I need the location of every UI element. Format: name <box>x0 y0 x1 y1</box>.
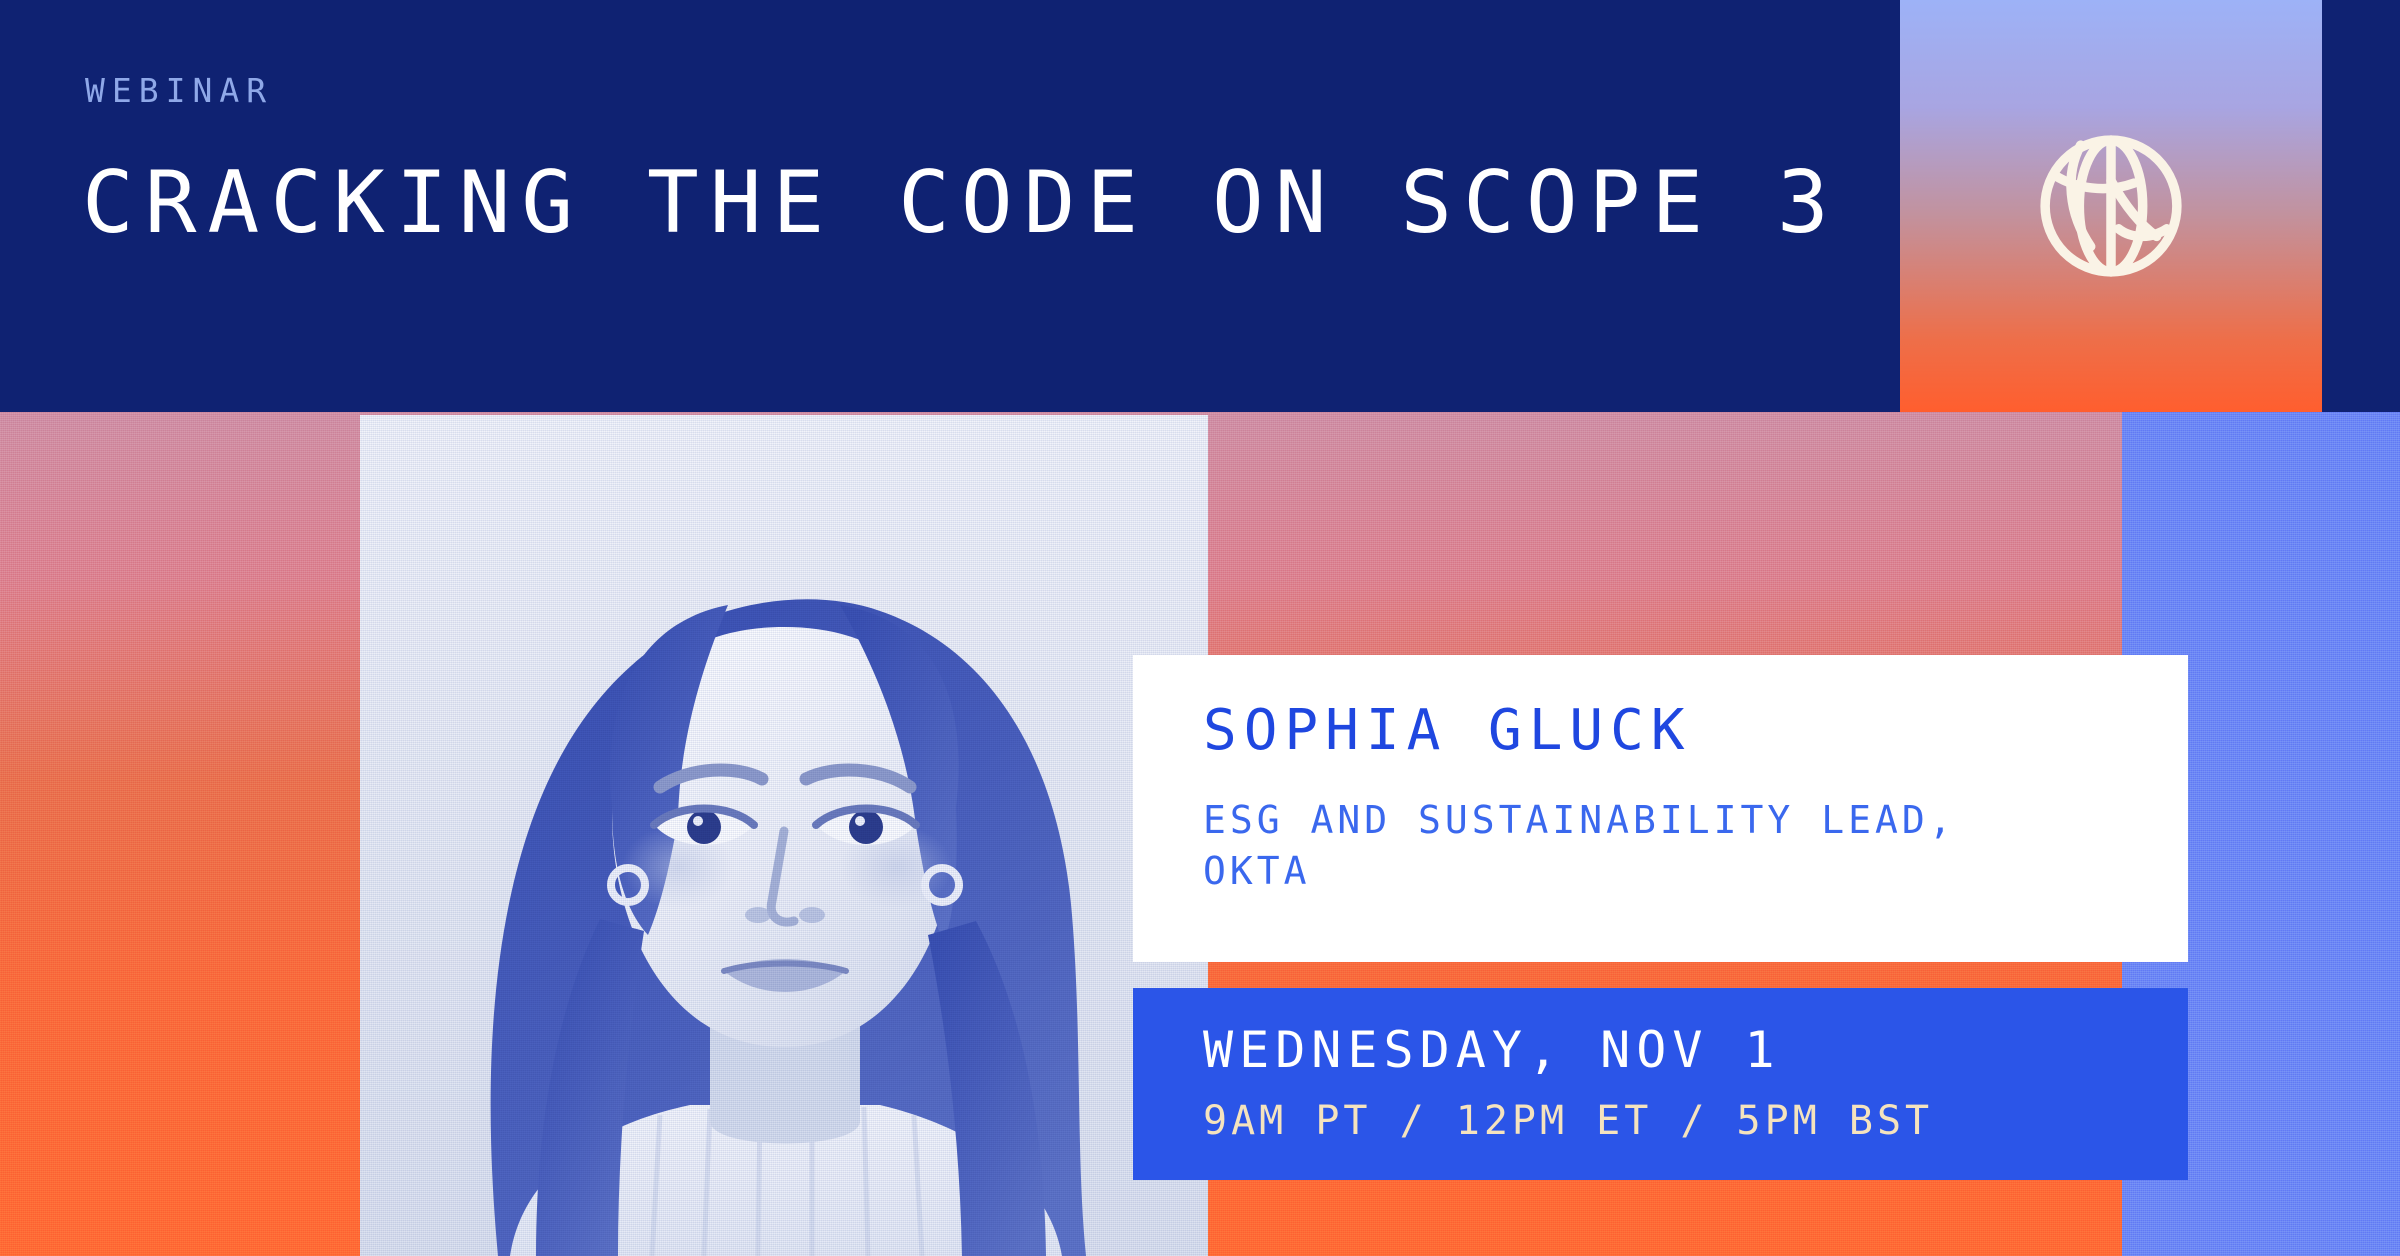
speaker-name: SOPHIA GLUCK <box>1203 703 1692 759</box>
speaker-portrait <box>360 415 1208 1256</box>
eyebrow-label: WEBINAR <box>85 74 273 107</box>
event-date-bar: WEDNESDAY, NOV 1 9AM PT / 12PM ET / 5PM … <box>1133 988 2188 1180</box>
webinar-promo-graphic: WEBINAR CRACKING THE CODE ON SCOPE 3 SOP… <box>0 0 2400 1256</box>
header-bar: WEBINAR CRACKING THE CODE ON SCOPE 3 <box>0 0 1900 412</box>
speaker-role: ESG AND SUSTAINABILITY LEAD, OKTA <box>1203 795 1956 898</box>
header-right-fill <box>2322 0 2400 412</box>
logo-tile <box>1900 0 2322 412</box>
page-title: CRACKING THE CODE ON SCOPE 3 <box>82 160 1840 246</box>
portrait-grain-texture <box>360 415 1208 1256</box>
speaker-card: SOPHIA GLUCK ESG AND SUSTAINABILITY LEAD… <box>1133 655 2188 962</box>
event-date: WEDNESDAY, NOV 1 <box>1203 1025 1781 1075</box>
globe-icon <box>2035 130 2187 282</box>
event-times: 9AM PT / 12PM ET / 5PM BST <box>1203 1101 1933 1141</box>
